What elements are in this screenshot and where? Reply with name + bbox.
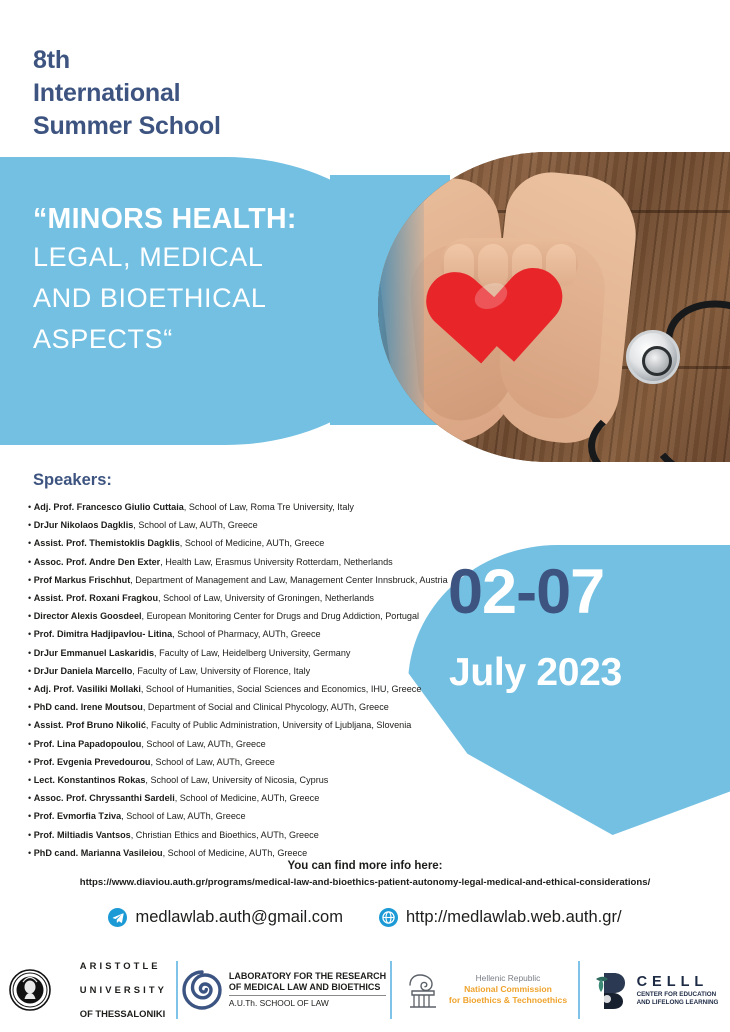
speaker-name: Lect. Konstantinos Rokas [34,775,146,785]
national-commission-text: Hellenic Republic National Commission fo… [449,973,567,1006]
speaker-affiliation: , School of Law, AUTh, Greece [133,520,257,530]
speaker-item: • Prof. Evmorfia Tziva, School of Law, A… [28,807,588,825]
speaker-item: • Assist. Prof Bruno Nikolić, Faculty of… [28,716,588,734]
stethoscope-icon [626,330,680,384]
email-contact[interactable]: medlawlab.auth@gmail.com [108,908,343,927]
speaker-affiliation: , Department of Social and Clinical Phyc… [143,702,389,712]
logo-celll: CELLL CENTER FOR EDUCATION AND LIFELONG … [580,959,730,1021]
event-title-line-1: “MINORS HEALTH: [33,203,383,237]
auth-line-1: ARISTOTLE [80,960,161,971]
event-title-line-3: AND BIOETHICAL [33,278,383,319]
event-title: “MINORS HEALTH: LEGAL, MEDICAL AND BIOET… [33,203,383,360]
national-line-3: for Bioethics & Technoethics [449,995,567,1006]
aristotle-seal-icon [9,969,51,1011]
celll-text: CELLL CENTER FOR EDUCATION AND LIFELONG … [637,974,719,1006]
page-title: 8th International Summer School [33,44,221,143]
speakers-heading: Speakers: [33,471,112,490]
speaker-affiliation: , School of Pharmacy, AUTh, Greece [172,629,320,639]
speaker-item: • Prof Markus Frischhut, Department of M… [28,571,588,589]
speaker-name: PhD cand. Marianna Vasileiou [34,848,163,858]
email-address: medlawlab.auth@gmail.com [135,908,343,927]
speaker-item: • Director Alexis Goosdeel, European Mon… [28,607,588,625]
celll-mark-icon [592,969,632,1011]
speaker-item: • Adj. Prof. Vasiliki Mollaki, School of… [28,680,588,698]
celll-line-2: CENTER FOR EDUCATION [637,991,719,999]
photo-edge-tint [378,152,424,462]
speaker-name: DrJur Daniela Marcello [34,666,133,676]
speaker-affiliation: , Faculty of Public Administration, Univ… [146,720,411,730]
speaker-name: Prof. Dimitra Hadjipavlou- Litina [34,629,172,639]
speaker-affiliation: , School of Law, AUTh, Greece [150,757,274,767]
speaker-affiliation: , European Monitoring Center for Drugs a… [142,611,420,621]
speaker-affiliation: , School of Law, University of Groningen… [158,593,374,603]
website-url: http://medlawlab.web.auth.gr/ [406,908,622,927]
celll-line-3: AND LIFELONG LEARNING [637,999,719,1007]
speaker-affiliation: , Health Law, Erasmus University Rotterd… [160,557,393,567]
logo-national-commission: Hellenic Republic National Commission fo… [392,959,578,1021]
speaker-affiliation: , School of Law, AUTh, Greece [121,811,245,821]
speaker-name: Assoc. Prof. Andre Den Exter [34,557,161,567]
speaker-item: • DrJur Emmanuel Laskaridis, Faculty of … [28,644,588,662]
speaker-name: Assist. Prof. Themistoklis Dagklis [34,538,180,548]
spiral-icon [182,970,222,1010]
speaker-item: • Assoc. Prof. Chryssanthi Sardeli, Scho… [28,789,588,807]
speaker-name: Prof. Lina Papadopoulou [34,739,142,749]
speaker-name: Assist. Prof Bruno Nikolić [34,720,146,730]
aristotle-university-text: ARISTOTLE UNIVERSITY OF THESSALONIKI [59,948,167,1032]
speaker-item: • Prof. Lina Papadopoulou, School of Law… [28,735,588,753]
contact-row: medlawlab.auth@gmail.com http://medlawla… [0,908,730,927]
speaker-affiliation: , School of Law, Roma Tre University, It… [184,502,354,512]
speaker-name: Adj. Prof. Francesco Giulio Cuttaia [34,502,184,512]
auth-line-3: OF THESSALONIKI [80,1008,165,1019]
speaker-item: • Assist. Prof. Themistoklis Dagklis, Sc… [28,534,588,552]
speaker-name: Director Alexis Goosdeel [34,611,142,621]
speaker-item: • Assoc. Prof. Andre Den Exter, Health L… [28,553,588,571]
title-line-2: International [33,77,221,110]
website-contact[interactable]: http://medlawlab.web.auth.gr/ [379,908,622,927]
speaker-item: • Prof. Dimitra Hadjipavlou- Litina, Sch… [28,625,588,643]
ionic-column-icon [403,969,443,1011]
speaker-affiliation: , School of Medicine, AUTh, Greece [163,848,308,858]
logo-aristotle-university: ARISTOTLE UNIVERSITY OF THESSALONIKI [0,959,176,1021]
national-line-1: Hellenic Republic [449,973,567,984]
event-title-line-2: LEGAL, MEDICAL [33,237,383,278]
celll-line-1: CELLL [637,974,719,991]
globe-icon [379,908,398,927]
speaker-affiliation: , Department of Management and Law, Mana… [130,575,447,585]
speaker-affiliation: , Christian Ethics and Bioethics, AUTh, … [131,830,319,840]
speaker-item: • Prof. Evgenia Prevedourou, School of L… [28,753,588,771]
speaker-name: Prof. Evmorfia Tziva [34,811,121,821]
red-heart-icon [451,269,564,375]
speaker-name: Prof Markus Frischhut [34,575,131,585]
title-line-1: 8th [33,44,221,77]
hero-photo-hands-holding-heart [378,152,730,462]
logo-medical-law-lab: LABORATORY FOR THE RESEARCH OF MEDICAL L… [178,959,390,1021]
speaker-item: • PhD cand. Irene Moutsou, Department of… [28,698,588,716]
title-line-3: Summer School [33,110,221,143]
paper-plane-icon [108,908,127,927]
speaker-affiliation: , School of Medicine, AUTh, Greece [175,793,320,803]
lab-line-2: OF MEDICAL LAW AND BIOETHICS [229,982,386,993]
speakers-list: • Adj. Prof. Francesco Giulio Cuttaia, S… [28,498,588,862]
speaker-name: Prof. Miltiadis Vantsos [34,830,131,840]
speaker-affiliation: , Faculty of Law, University of Florence… [132,666,310,676]
auth-line-2: UNIVERSITY [80,984,167,995]
speaker-name: Prof. Evgenia Prevedourou [34,757,151,767]
lab-line-3: A.U.Th. SCHOOL OF LAW [229,995,386,1008]
lab-line-1: LABORATORY FOR THE RESEARCH [229,971,386,982]
footer-logos: ARISTOTLE UNIVERSITY OF THESSALONIKI LAB… [0,948,730,1032]
speaker-name: Assist. Prof. Roxani Fragkou [34,593,158,603]
speaker-item: • Assist. Prof. Roxani Fragkou, School o… [28,589,588,607]
speaker-item: • DrJur Nikolaos Dagklis, School of Law,… [28,516,588,534]
speaker-name: DrJur Emmanuel Laskaridis [34,648,154,658]
speaker-affiliation: , School of Law, AUTh, Greece [141,739,265,749]
more-info-label: You can find more info here: [0,860,730,872]
speaker-name: Adj. Prof. Vasiliki Mollaki [34,684,141,694]
speaker-affiliation: , School of Medicine, AUTh, Greece [180,538,325,548]
speaker-name: PhD cand. Irene Moutsou [34,702,143,712]
speaker-name: Assoc. Prof. Chryssanthi Sardeli [34,793,175,803]
speaker-affiliation: , Faculty of Law, Heidelberg University,… [154,648,350,658]
national-line-2: National Commission [449,984,567,995]
speaker-item: • Lect. Konstantinos Rokas, School of La… [28,771,588,789]
lab-text: LABORATORY FOR THE RESEARCH OF MEDICAL L… [229,971,386,1008]
speaker-affiliation: , School of Law, University of Nicosia, … [145,775,328,785]
speaker-name: DrJur Nikolaos Dagklis [34,520,134,530]
speaker-item: • Adj. Prof. Francesco Giulio Cuttaia, S… [28,498,588,516]
speaker-affiliation: , School of Humanities, Social Sciences … [141,684,422,694]
speaker-item: • DrJur Daniela Marcello, Faculty of Law… [28,662,588,680]
event-title-line-4: ASPECTS“ [33,319,383,360]
poster-root: 8th International Summer School “MINORS … [0,0,730,1032]
speaker-item: • Prof. Miltiadis Vantsos, Christian Eth… [28,826,588,844]
program-url[interactable]: https://www.diaviou.auth.gr/programs/med… [0,877,730,888]
